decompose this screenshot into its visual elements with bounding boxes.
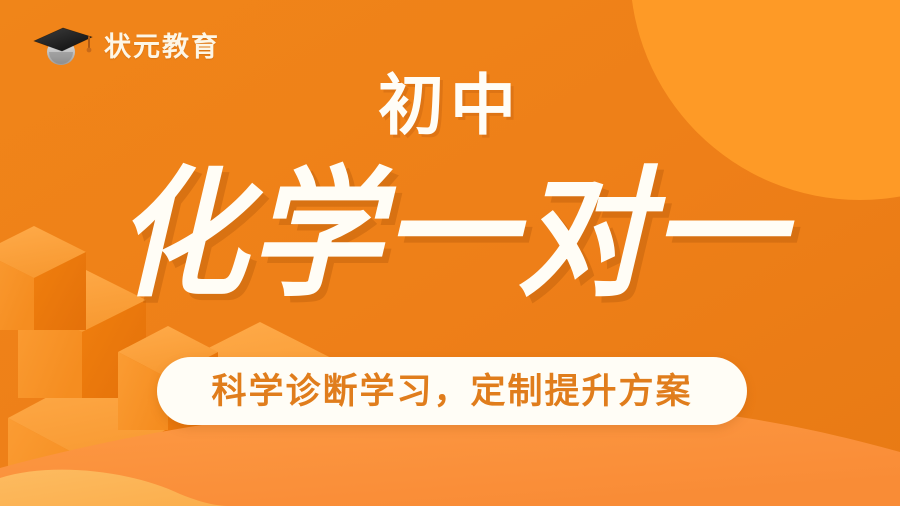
brand-name: 状元教育	[104, 34, 220, 61]
subtitle-pill[interactable]: 科学诊断学习，定制提升方案	[157, 357, 747, 425]
graduation-cap-icon	[32, 24, 94, 70]
eyebrow-heading: 初中	[0, 72, 900, 138]
subtitle-text: 科学诊断学习，定制提升方案	[211, 374, 692, 409]
brand-logo[interactable]: 状元教育	[32, 24, 220, 70]
promo-banner: 状元教育 初中 化学一对一 科学诊断学习，定制提升方案	[0, 0, 900, 506]
main-headline: 化学一对一	[0, 160, 900, 311]
